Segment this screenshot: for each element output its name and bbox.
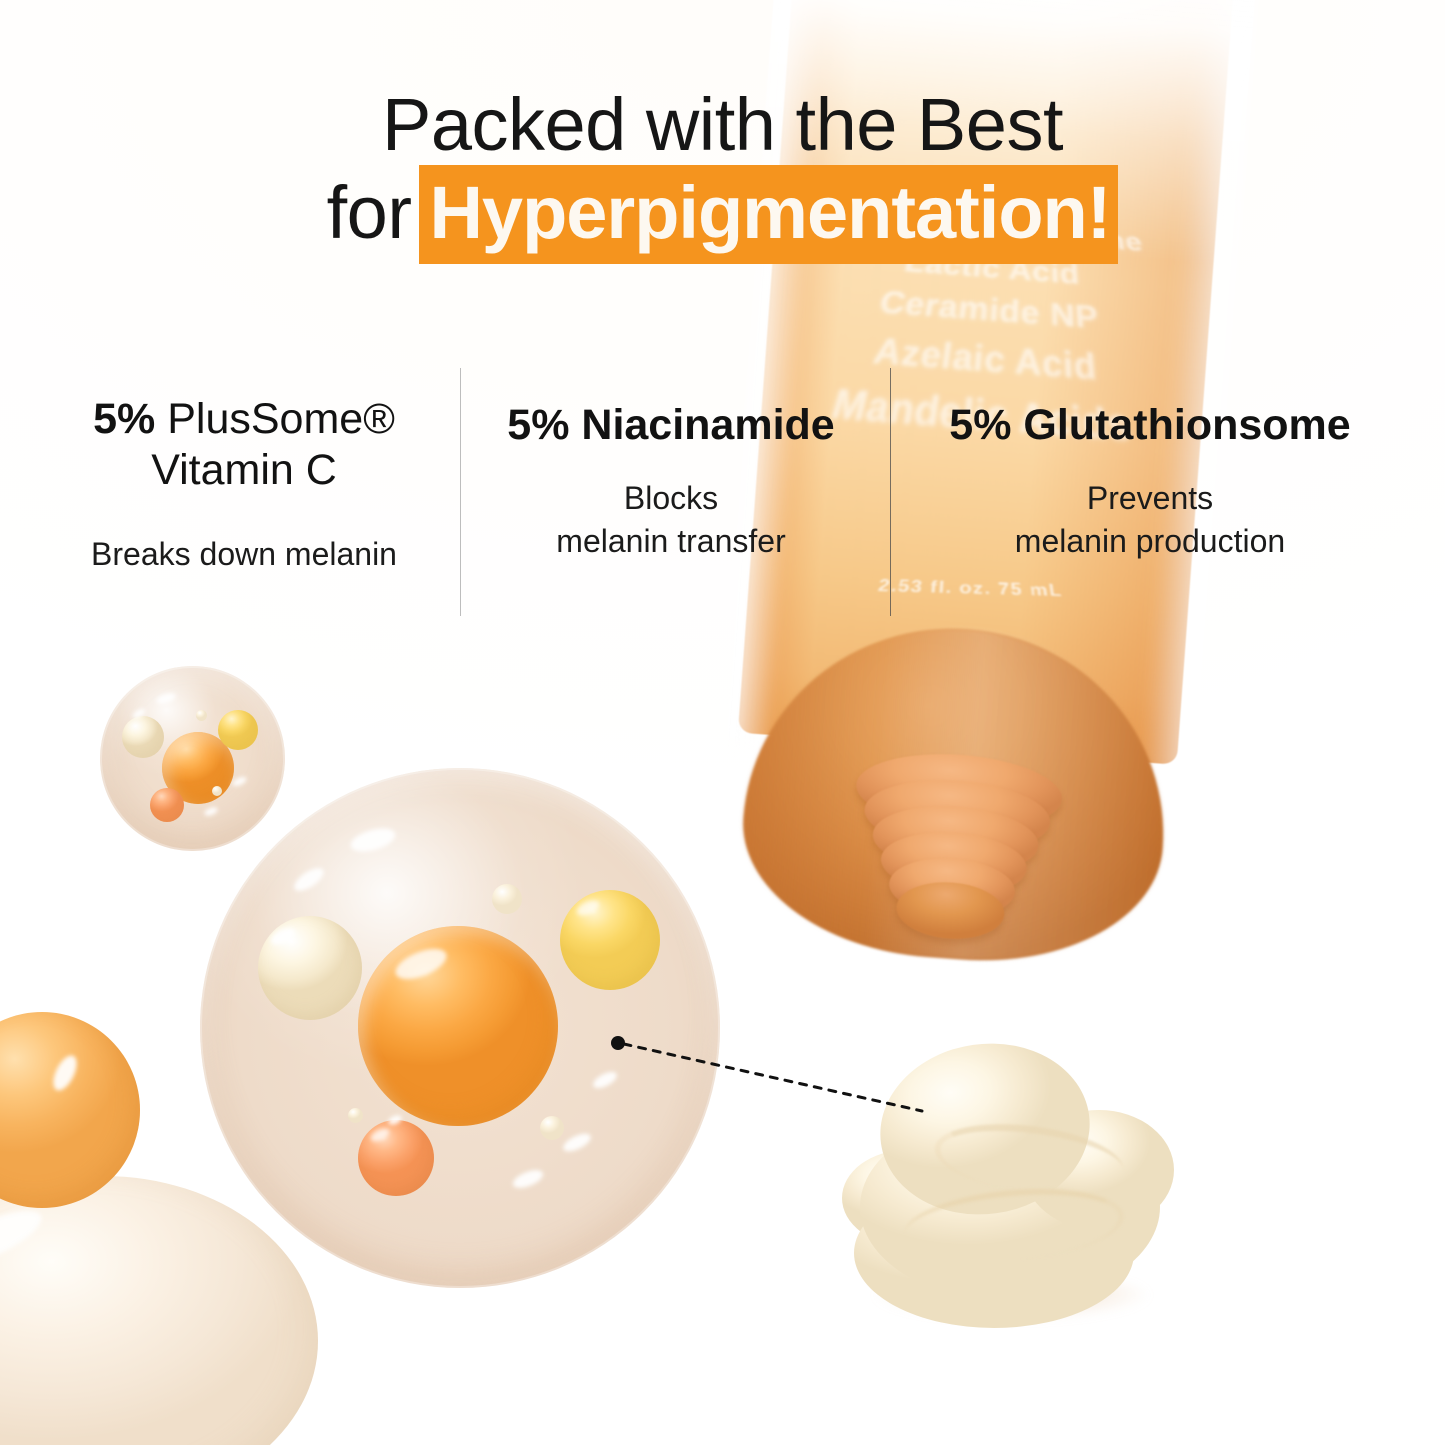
ingredient-columns: 5% PlusSome® Vitamin C Breaks down melan… <box>0 372 1445 622</box>
ingredient-title: 5% Glutathionsome <box>900 400 1400 451</box>
ingredient-description: Prevents melanin production <box>900 477 1400 564</box>
page-title: Packed with the Best forHyperpigmentatio… <box>0 88 1445 250</box>
specular-highlight <box>575 898 602 919</box>
ingredient-percent: 5% <box>507 401 569 449</box>
specular-highlight <box>369 1126 391 1144</box>
ingredient-name: Glutathionsome <box>1023 401 1350 449</box>
specular-highlight <box>268 925 297 948</box>
serum-bubble-main <box>200 768 720 1288</box>
headline-line-1: Packed with the Best <box>0 88 1445 162</box>
ingredient-title: 5% Niacinamide <box>476 400 866 451</box>
bubble-inner-orange <box>358 926 558 1126</box>
specular-highlight <box>291 864 328 895</box>
bubble-inner-tiny <box>348 1108 363 1123</box>
ingredient-title: 5% PlusSome® Vitamin C <box>48 394 440 495</box>
ingredient-description-line2: melanin production <box>1015 523 1285 559</box>
ingredient-column-glutathionsome: 5% Glutathionsome Prevents melanin produ… <box>900 400 1400 564</box>
product-infographic: Acetyl Glucosamine Lactic Acid Ceramide … <box>0 0 1445 1445</box>
specular-highlight <box>348 824 398 856</box>
ingredient-name-line2: Vitamin C <box>151 446 337 494</box>
ingredient-name: PlusSome® <box>167 395 395 443</box>
bubble-inner-orange <box>162 732 234 804</box>
cream-dollop <box>838 1020 1198 1320</box>
ingredient-column-niacinamide: 5% Niacinamide Blocks melanin transfer <box>476 400 866 564</box>
bubble-inner-yellow <box>560 890 660 990</box>
ingredient-description: Blocks melanin transfer <box>476 477 866 564</box>
bubble-inner-cream <box>258 916 362 1020</box>
ingredient-name: Niacinamide <box>581 401 834 449</box>
bubble-inner-peach <box>358 1120 434 1196</box>
specular-highlight <box>561 1130 594 1155</box>
bubble-inner-yellow <box>218 710 258 750</box>
bubble-inner-tiny <box>196 710 207 721</box>
bubble-inner-peach <box>150 788 184 822</box>
ingredient-percent: 5% <box>949 401 1011 449</box>
specular-highlight <box>49 1052 82 1094</box>
specular-highlight <box>203 806 219 818</box>
headline-highlight: Hyperpigmentation! <box>419 165 1118 264</box>
bubble-inner-tiny <box>212 786 222 796</box>
tube-nozzle <box>844 747 1065 972</box>
bubble-inner-tiny <box>492 884 522 914</box>
specular-highlight <box>591 1069 620 1092</box>
ingredient-column-vitamin-c: 5% PlusSome® Vitamin C Breaks down melan… <box>48 394 440 577</box>
ingredient-description-line2: melanin transfer <box>556 523 785 559</box>
specular-highlight <box>511 1167 546 1192</box>
specular-highlight <box>131 707 147 720</box>
ingredient-description: Breaks down melanin <box>48 533 440 577</box>
ingredient-description-line1: Blocks <box>624 480 718 516</box>
specular-highlight <box>387 1113 403 1126</box>
specular-highlight <box>231 775 248 788</box>
bubble-inner-cream <box>122 716 164 758</box>
ingredient-description-line1: Prevents <box>1087 480 1213 516</box>
serum-bubble-small <box>100 666 285 851</box>
ingredient-percent: 5% <box>93 395 155 443</box>
headline-line-2: forHyperpigmentation! <box>0 176 1445 250</box>
specular-highlight <box>0 1200 48 1281</box>
headline-prefix: for <box>327 171 412 254</box>
specular-highlight <box>391 943 450 985</box>
specular-highlight <box>155 691 177 706</box>
bubble-inner-tiny <box>540 1116 564 1140</box>
